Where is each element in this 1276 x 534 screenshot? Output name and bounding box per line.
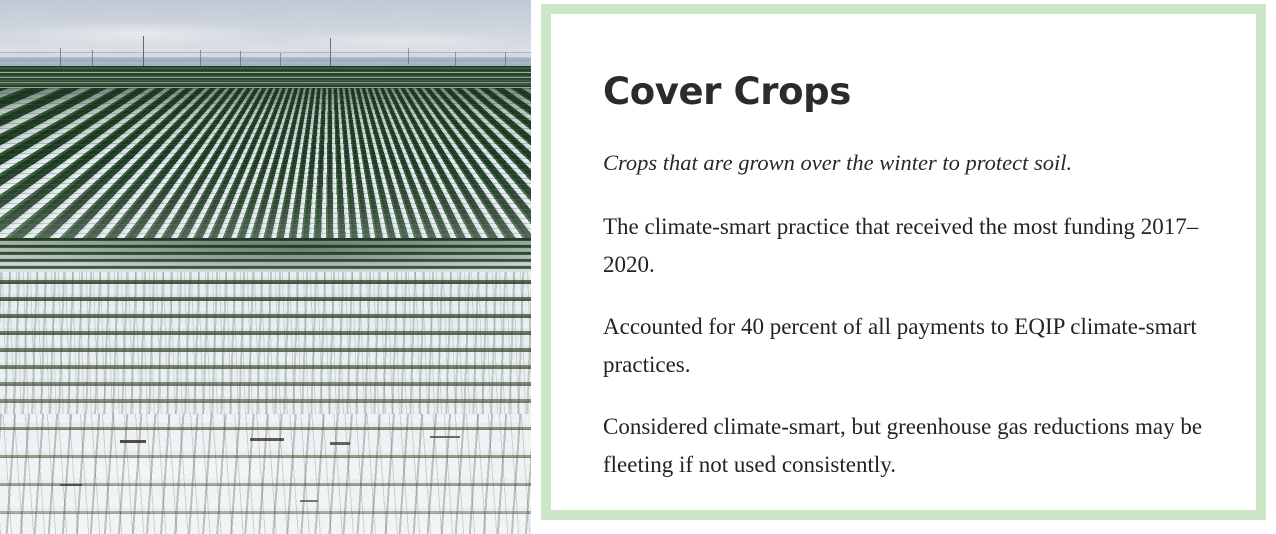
utility-poles	[0, 34, 531, 70]
field-photo	[0, 0, 531, 534]
fact-paragraph-2: Accounted for 40 percent of all payments…	[603, 308, 1227, 384]
card-content: Cover Crops Crops that are grown over th…	[603, 70, 1227, 484]
cover-crops-infocard: Cover Crops Crops that are grown over th…	[0, 0, 1276, 534]
fact-paragraph-3: Considered climate-smart, but greenhouse…	[603, 408, 1227, 484]
text-card: Cover Crops Crops that are grown over th…	[541, 4, 1266, 520]
definition-text: Crops that are grown over the winter to …	[603, 148, 1227, 178]
midfield-shading	[0, 88, 531, 248]
fact-paragraph-1: The climate-smart practice that received…	[603, 208, 1227, 284]
foreground-stubble	[0, 414, 531, 534]
page-title: Cover Crops	[603, 70, 1227, 114]
lower-field-texture	[0, 272, 531, 422]
